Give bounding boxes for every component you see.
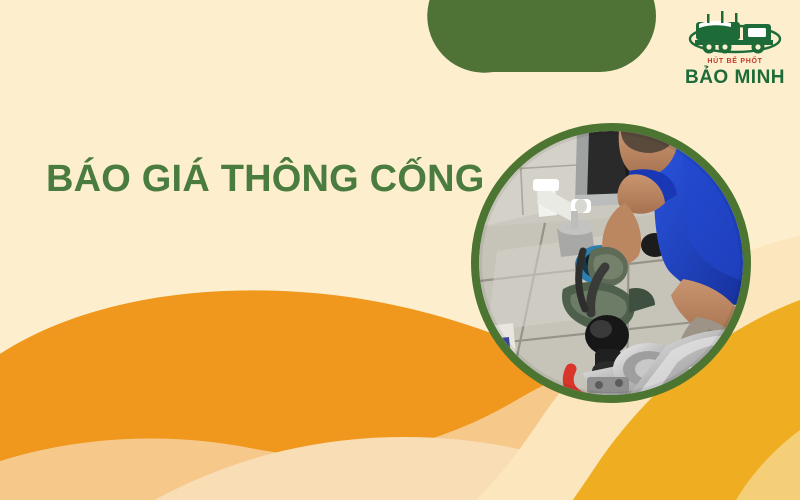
septic-tanker-truck-icon bbox=[687, 8, 783, 56]
page-title: BÁO GIÁ THÔNG CỐNG bbox=[46, 157, 476, 201]
plumber-working-illustration bbox=[479, 131, 743, 395]
promo-banner: BÁO GIÁ THÔNG CỐNG HÚT BỂ bbox=[0, 0, 800, 500]
logo-tagline: HÚT BỂ PHỐT bbox=[676, 57, 794, 66]
hero-photo-circle bbox=[471, 123, 751, 403]
logo-brand-name: BẢO MINH bbox=[676, 67, 794, 89]
hero-photo bbox=[479, 131, 743, 395]
brand-logo[interactable]: HÚT BỂ PHỐT BẢO MINH bbox=[676, 8, 794, 92]
